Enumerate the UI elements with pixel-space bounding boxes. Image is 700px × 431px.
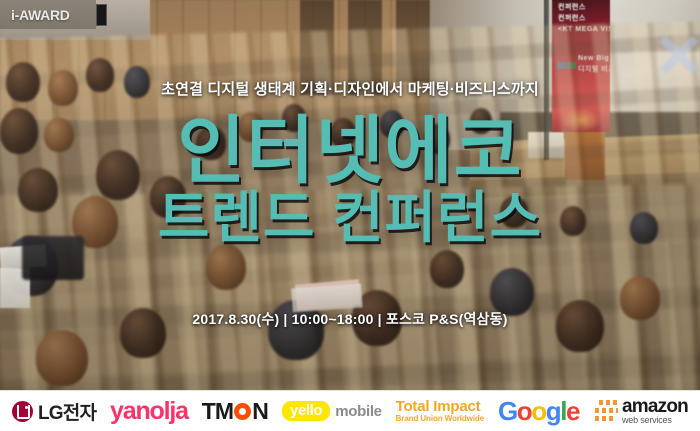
sponsor-logo-bar: LG전자 yanolja TM N yello mobile Total Imp… [0,390,700,431]
event-subtitle: 초연결 디지털 생태계 기획·디자인에서 마케팅·비즈니스까지 [0,78,700,99]
google-letter-g1: G [498,396,517,427]
lg-electronics-label: LG전자 [38,398,96,425]
tmon-label-part3: N [252,398,268,425]
close-x-watermark-icon [652,28,700,82]
badge-block-decoration [96,4,107,26]
i-award-badge: i-AWARD [0,0,96,29]
google-letter-o2: o [531,396,545,427]
tmon-label-part1: TM [202,398,234,425]
event-date-time-venue: 2017.8.30(수) | 10:00~18:00 | 포스코 P&S(역삼동… [184,308,515,330]
web-services-label: web services [622,416,688,425]
google-letter-g2: g [546,396,560,427]
yello-chip-label: yello [282,401,330,421]
sponsor-logo-yello-mobile[interactable]: yello mobile [282,391,382,431]
i-award-label: i-AWARD [11,7,70,23]
total-impact-sub-label: Brand Union Worldwide [396,415,484,423]
conference-promo-banner: 컨퍼런스 컨퍼런스 <KT MEGA VISION> New Big Thing… [0,0,700,431]
sponsor-logo-tmon[interactable]: TM N [202,391,268,431]
yello-mobile-word: mobile [335,403,382,420]
aws-boxes-icon [593,399,619,423]
sponsor-logo-yanolja[interactable]: yanolja [110,391,188,431]
sponsor-logo-total-impact[interactable]: Total Impact Brand Union Worldwide [396,391,484,431]
sponsor-logo-google[interactable]: Google [498,391,579,431]
sponsor-logo-aws[interactable]: amazon web services [593,391,688,431]
lg-circle-icon [12,401,33,422]
tmon-o-icon [234,403,251,420]
event-title-line2: 트렌드 컨퍼런스 [0,190,700,246]
headline-copy-group: 초연결 디지털 생태계 기획·디자인에서 마케팅·비즈니스까지 인터넷에코 트렌… [0,78,700,246]
google-letter-o1: o [517,396,531,427]
amazon-label: amazon [622,396,688,417]
event-info-line: 2017.8.30(수) | 10:00~18:00 | 포스코 P&S(역삼동… [0,308,700,330]
total-impact-main-label: Total Impact [396,399,484,415]
google-letter-e: e [566,396,579,427]
yanolja-label: yanolja [110,397,188,426]
event-title-line1: 인터넷에코 [0,115,700,188]
sponsor-logo-lg-electronics[interactable]: LG전자 [12,391,96,431]
